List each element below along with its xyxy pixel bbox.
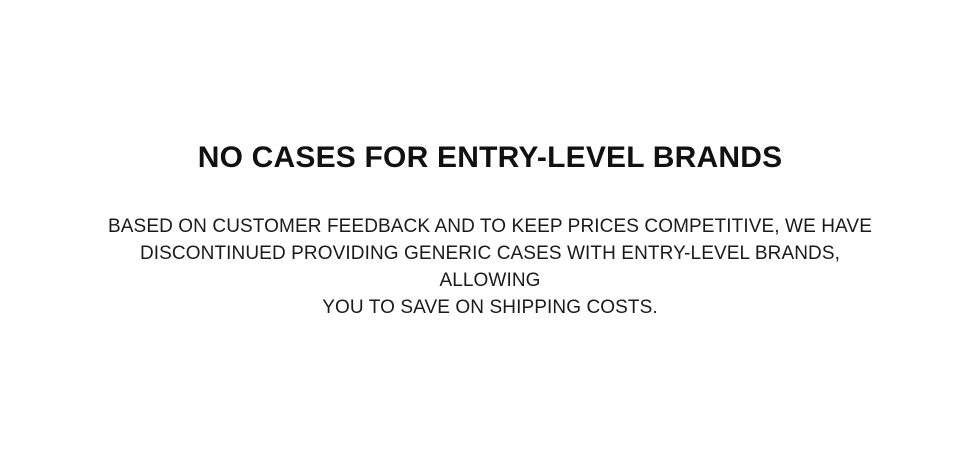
banner-description-line: DISCONTINUED PROVIDING GENERIC CASES WIT… — [90, 240, 890, 294]
promo-banner: NO CASES FOR ENTRY-LEVEL BRANDS BASED ON… — [0, 0, 980, 450]
page-title: NO CASES FOR ENTRY-LEVEL BRANDS — [198, 139, 783, 177]
banner-content: NO CASES FOR ENTRY-LEVEL BRANDS BASED ON… — [0, 0, 980, 321]
banner-description-line: YOU TO SAVE ON SHIPPING COSTS. — [90, 294, 890, 321]
banner-description: BASED ON CUSTOMER FEEDBACK AND TO KEEP P… — [90, 213, 890, 321]
banner-description-line: BASED ON CUSTOMER FEEDBACK AND TO KEEP P… — [90, 213, 890, 240]
